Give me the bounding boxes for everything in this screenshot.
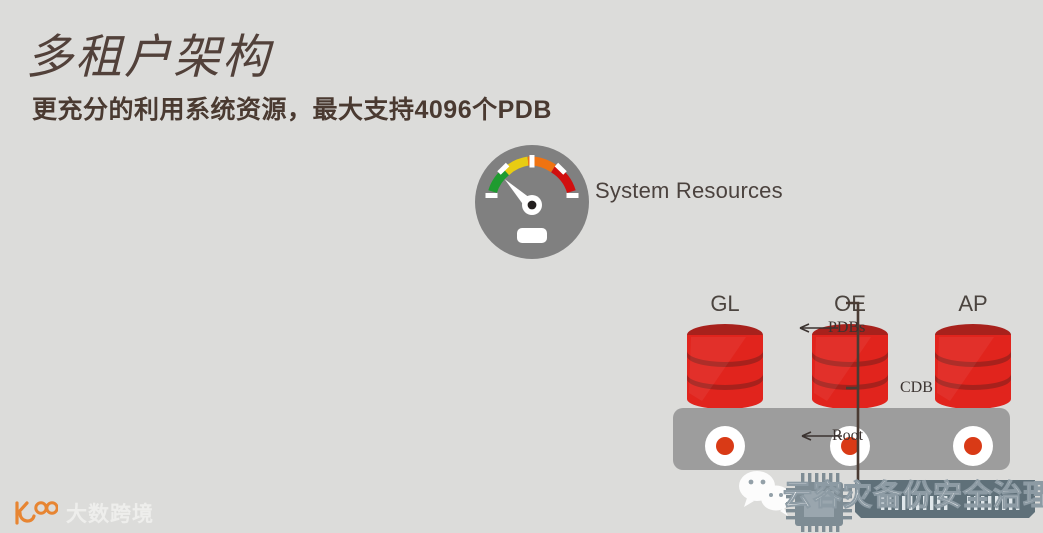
multitenant-architecture-diagram: GL OE AP [660,285,1030,480]
gauge-label: System Resources [595,178,783,204]
pdbs-annotation: PDBs [828,319,865,337]
gauge-icon [475,145,589,259]
cdb-bracket [660,285,1030,480]
root-annotation: Root [832,427,863,445]
cdb-annotation: CDB [900,379,933,397]
brand-watermark: 大数跨境 [14,498,154,528]
wechat-watermark: 云容灾备份安全治理 [735,468,1040,532]
slide-canvas: 多租户架构 更充分的利用系统资源，最大支持4096个PDB [0,0,1043,533]
page-title: 多租户架构 [26,18,271,87]
brand-logo-icon [14,500,58,526]
wechat-watermark-text: 云容灾备份安全治理 [783,472,1043,514]
system-resources-gauge [475,145,589,259]
brand-watermark-text: 大数跨境 [66,498,154,528]
page-subtitle: 更充分的利用系统资源，最大支持4096个PDB [32,90,552,126]
